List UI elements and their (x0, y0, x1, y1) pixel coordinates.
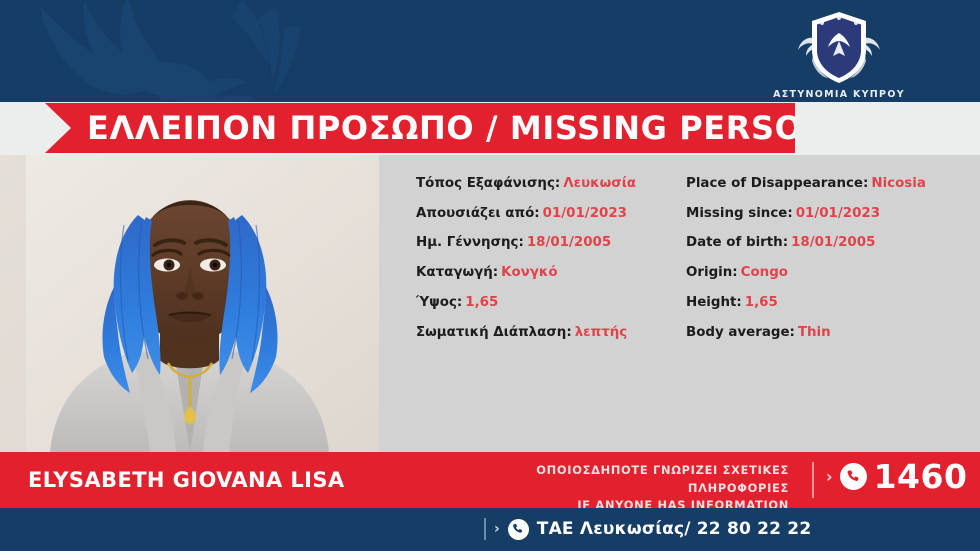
poster-header: ΑΣΤΥΝΟΜΙΑ ΚΥΠΡΟΥ Για μια πιο ασφαλή κοιν… (0, 0, 980, 102)
detail-row: Missing since:01/01/2023 (686, 207, 980, 222)
local-contact-block[interactable]: › ΤΑΕ Λευκωσίας/ 22 80 22 22 (484, 518, 811, 540)
detail-row: Σωματική Διάπλαση:λεπτής (416, 326, 701, 341)
footer-red-bar: ELYSABETH GIOVANA LISA ΟΠΟΙΟΣΔΗΠΟΤΕ ΓΝΩΡ… (0, 452, 980, 508)
vertical-divider (812, 462, 814, 498)
chevron-right-icon: › (494, 522, 500, 536)
missing-person-poster: ΑΣΤΥΝΟΜΙΑ ΚΥΠΡΟΥ Για μια πιο ασφαλή κοιν… (0, 0, 980, 551)
detail-value: Κονγκό (501, 265, 558, 280)
detail-value: 01/01/2023 (796, 206, 880, 221)
detail-label: Ημ. Γέννησης: (416, 235, 524, 250)
chevron-right-icon: › (826, 469, 833, 485)
detail-value: Thin (798, 325, 831, 340)
detail-label: Missing since: (686, 206, 793, 221)
person-name: ELYSABETH GIOVANA LISA (28, 468, 345, 492)
detail-value: Congo (741, 265, 788, 280)
detail-row: Date of birth:18/01/2005 (686, 236, 980, 251)
detail-label: Τόπος Εξαφάνισης: (416, 176, 560, 191)
organization-name: ΑΣΤΥΝΟΜΙΑ ΚΥΠΡΟΥ (734, 89, 944, 100)
detail-label: Καταγωγή: (416, 265, 498, 280)
detail-label: Απουσιάζει από: (416, 206, 540, 221)
detail-row: Καταγωγή:Κονγκό (416, 266, 701, 281)
missing-person-photo (0, 155, 379, 452)
detail-row: Ημ. Γέννησης:18/01/2005 (416, 236, 701, 251)
hotline-number: 1460 (874, 460, 968, 493)
vertical-divider (484, 518, 486, 540)
details-column-greek: Τόπος Εξαφάνισης:Λευκωσία Απουσιάζει από… (416, 177, 701, 355)
detail-row: Origin:Congo (686, 266, 980, 281)
detail-value: 18/01/2005 (527, 235, 611, 250)
poster-main: Τόπος Εξαφάνισης:Λευκωσία Απουσιάζει από… (0, 155, 980, 452)
detail-row: Height:1,65 (686, 296, 980, 311)
detail-value: 1,65 (745, 295, 778, 310)
detail-label: Σωματική Διάπλαση: (416, 325, 572, 340)
detail-value: Λευκωσία (563, 176, 636, 191)
detail-row: Body average:Thin (686, 326, 980, 341)
detail-row: Ύψος:1,65 (416, 296, 701, 311)
detail-value: Nicosia (871, 176, 926, 191)
phone-icon (508, 519, 529, 540)
phone-icon (840, 463, 867, 490)
footer-navy-bar: › ΤΑΕ Λευκωσίας/ 22 80 22 22 (0, 508, 980, 551)
detail-value: 18/01/2005 (791, 235, 875, 250)
detail-row: Place of Disappearance:Nicosia (686, 177, 980, 192)
detail-value: 01/01/2023 (543, 206, 627, 221)
detail-row: Απουσιάζει από:01/01/2023 (416, 207, 701, 222)
detail-row: Τόπος Εξαφάνισης:Λευκωσία (416, 177, 701, 192)
detail-label: Height: (686, 295, 742, 310)
police-logo-block: ΑΣΤΥΝΟΜΙΑ ΚΥΠΡΟΥ (734, 6, 944, 100)
detail-value: λεπτής (575, 325, 628, 340)
detail-label: Place of Disappearance: (686, 176, 868, 191)
detail-label: Origin: (686, 265, 738, 280)
details-column-english: Place of Disappearance:Nicosia Missing s… (686, 177, 980, 355)
detail-label: Ύψος: (416, 295, 462, 310)
details-panel: Τόπος Εξαφάνισης:Λευκωσία Απουσιάζει από… (379, 155, 980, 452)
dove-olive-branch-watermark (0, 0, 320, 102)
detail-label: Date of birth: (686, 235, 788, 250)
police-shield-dove-emblem (792, 6, 886, 88)
hotline-block[interactable]: › 1460 (826, 460, 967, 493)
local-contact-text: ΤΑΕ Λευκωσίας/ 22 80 22 22 (537, 519, 812, 539)
appeal-line-greek: ΟΠΟΙΟΣΔΗΠΟΤΕ ΓΝΩΡΙΖΕΙ ΣΧΕΤΙΚΕΣ ΠΛΗΡΟΦΟΡΙ… (487, 462, 789, 497)
detail-value: 1,65 (465, 295, 498, 310)
missing-person-banner: ΕΛΛΕΙΠΟΝ ΠΡΟΣΩΠΟ / MISSING PERSON (45, 103, 795, 153)
detail-label: Body average: (686, 325, 795, 340)
banner-title: ΕΛΛΕΙΠΟΝ ΠΡΟΣΩΠΟ / MISSING PERSON (87, 109, 830, 147)
